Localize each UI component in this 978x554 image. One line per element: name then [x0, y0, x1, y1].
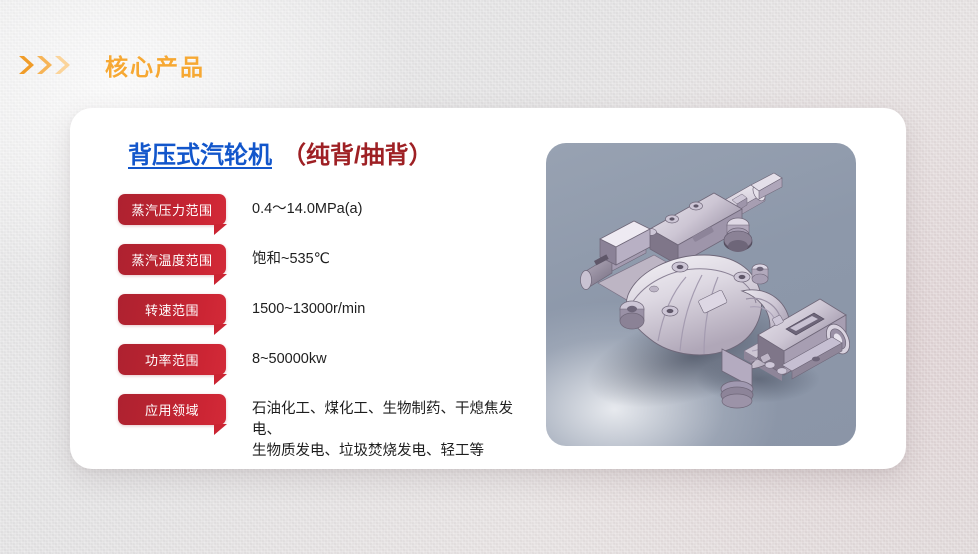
spec-label-bubble: 转速范围 [118, 294, 226, 325]
spec-list: 蒸汽压力范围 0.4～14.0MPa(a) 蒸汽温度范围 饱和~535℃ [70, 194, 540, 444]
spec-label: 功率范围 [145, 350, 199, 369]
back-pressure-steam-turbine-cad-render [546, 143, 856, 446]
product-image-panel [546, 143, 856, 446]
slide-canvas: 核心产品 背压式汽轮机（纯背/抽背） 蒸汽压力范围 0.4～14.0MPa(a) [0, 0, 978, 554]
spec-label-bubble: 蒸汽压力范围 [118, 194, 226, 225]
spec-value: 石油化工、煤化工、生物制药、干熄焦发电、 生物质发电、垃圾焚烧发电、轻工等 [252, 394, 540, 462]
product-title-sub: （纯背/抽背） [282, 142, 433, 169]
product-title-main: 背压式汽轮机 [128, 142, 272, 169]
spec-value: 0.4～14.0MPa(a) [252, 194, 362, 220]
product-title: 背压式汽轮机（纯背/抽背） [128, 144, 433, 168]
chevron-right-icon-3 [54, 54, 71, 76]
spec-label: 蒸汽压力范围 [131, 200, 212, 219]
bubble-tail-icon [214, 274, 227, 285]
chevron-right-icon-2 [36, 54, 53, 76]
bubble-tail-icon [214, 374, 227, 385]
spec-value: 1500~13000r/min [252, 294, 365, 320]
bubble-tail-icon [214, 424, 227, 435]
spec-row: 转速范围 1500~13000r/min [70, 294, 540, 344]
spec-label: 应用领域 [145, 400, 199, 419]
spec-row: 蒸汽压力范围 0.4～14.0MPa(a) [70, 194, 540, 244]
spec-label-bubble: 应用领域 [118, 394, 226, 425]
bubble-tail-icon [214, 324, 227, 335]
section-header: 核心产品 [18, 48, 205, 82]
spec-label-bubble: 蒸汽温度范围 [118, 244, 226, 275]
chevron-right-icon-1 [18, 54, 35, 76]
section-title: 核心产品 [105, 48, 205, 82]
product-card: 背压式汽轮机（纯背/抽背） 蒸汽压力范围 0.4～14.0MPa(a) 蒸汽温度… [70, 108, 906, 469]
spec-row: 蒸汽温度范围 饱和~535℃ [70, 244, 540, 294]
bubble-tail-icon [214, 224, 227, 235]
spec-row: 功率范围 8~50000kw [70, 344, 540, 394]
spec-row: 应用领域 石油化工、煤化工、生物制药、干熄焦发电、 生物质发电、垃圾焚烧发电、轻… [70, 394, 540, 444]
spec-value: 饱和~535℃ [252, 244, 330, 270]
spec-label: 转速范围 [145, 300, 199, 319]
spec-value: 8~50000kw [252, 344, 327, 370]
double-chevron-right-icon [18, 54, 71, 76]
spec-label: 蒸汽温度范围 [131, 250, 212, 269]
spec-label-bubble: 功率范围 [118, 344, 226, 375]
